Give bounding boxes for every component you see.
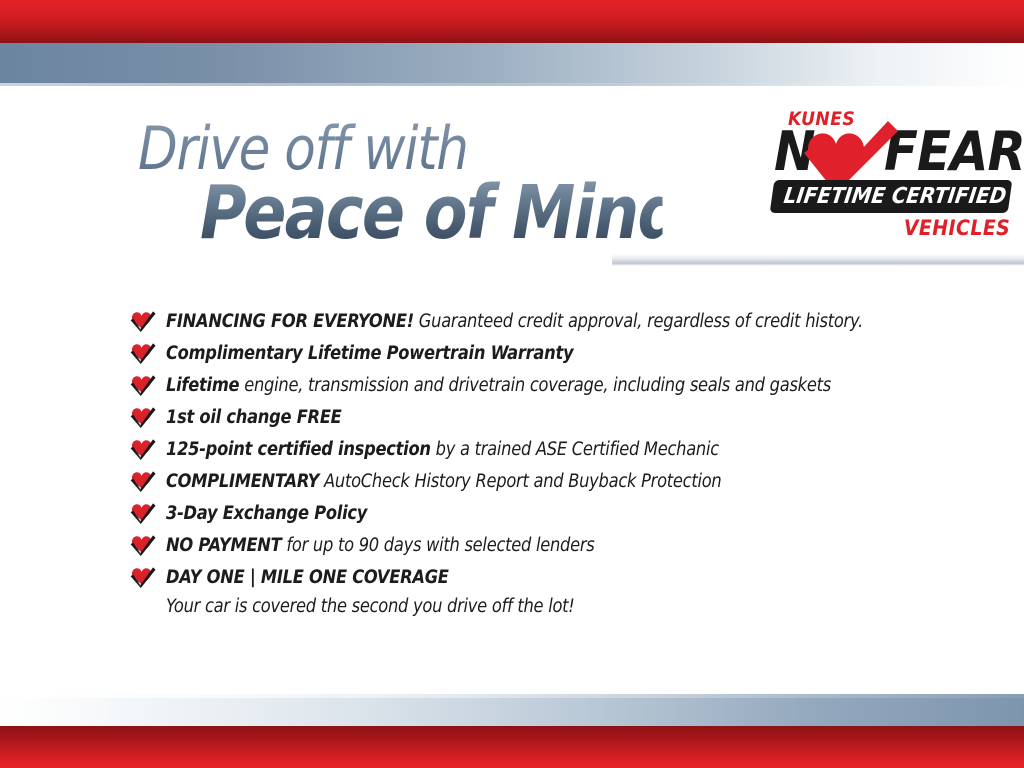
bullet-rest: AutoCheck History Report and Buyback Pro… <box>319 471 721 492</box>
bullet-lead: Lifetime <box>166 375 239 396</box>
headline-line-2: Peace of Mind <box>200 174 663 252</box>
list-item: DAY ONE | MILE ONE COVERAGE Your car is … <box>130 562 930 620</box>
heart-check-icon <box>130 406 156 428</box>
bullet-text: 125-point certified inspection by a trai… <box>166 434 719 466</box>
heart-check-icon <box>130 374 156 396</box>
bullet-text: 1st oil change FREE <box>166 402 342 434</box>
bottom-red-stripe <box>0 726 1024 768</box>
list-item: Lifetime engine, transmission and drivet… <box>130 370 930 402</box>
logo-word-fear: FEAR <box>884 125 1024 179</box>
top-red-stripe <box>0 0 1024 43</box>
bullet-lead: 125-point certified inspection <box>166 439 431 460</box>
list-item: 3-Day Exchange Policy <box>130 498 930 530</box>
bullet-text: FINANCING FOR EVERYONE! Guaranteed credi… <box>166 306 863 338</box>
bullet-lead: DAY ONE | MILE ONE COVERAGE <box>166 567 449 588</box>
bullet-text: COMPLIMENTARY AutoCheck History Report a… <box>166 466 721 498</box>
bullet-lead: NO PAYMENT <box>166 535 282 556</box>
list-item: 125-point certified inspection by a trai… <box>130 434 930 466</box>
bullet-text: Complimentary Lifetime Powertrain Warran… <box>166 338 573 370</box>
headline-block: Drive off with Peace of Mind <box>138 118 738 252</box>
top-slate-stripe <box>0 43 1024 86</box>
bullet-rest: for up to 90 days with selected lenders <box>282 535 595 556</box>
bullet-rest: engine, transmission and drivetrain cove… <box>239 375 831 396</box>
bullet-lead: COMPLIMENTARY <box>166 471 319 492</box>
bullet-subtext: Your car is covered the second you drive… <box>166 594 838 620</box>
heart-check-icon <box>130 502 156 524</box>
heart-check-icon <box>130 470 156 492</box>
heart-check-icon <box>130 566 156 588</box>
list-item: COMPLIMENTARY AutoCheck History Report a… <box>130 466 930 498</box>
logo-certified-band: LIFETIME CERTIFIED <box>770 180 1013 213</box>
bottom-slate-stripe <box>0 694 1024 726</box>
bullet-lead: FINANCING FOR EVERYONE! <box>166 311 414 332</box>
bullet-lead: 3-Day Exchange Policy <box>166 503 367 524</box>
heart-check-icon <box>130 438 156 460</box>
bullet-lead: Complimentary Lifetime Powertrain Warran… <box>166 343 573 364</box>
bullet-rest: by a trained ASE Certified Mechanic <box>431 439 719 460</box>
header-divider <box>612 254 1024 266</box>
heart-check-icon <box>130 534 156 556</box>
bullet-text: 3-Day Exchange Policy <box>166 498 367 530</box>
logo-vehicles-label: VEHICLES <box>904 216 1010 240</box>
bullet-text: Lifetime engine, transmission and drivet… <box>166 370 831 402</box>
list-item: Complimentary Lifetime Powertrain Warran… <box>130 338 930 370</box>
list-item: FINANCING FOR EVERYONE! Guaranteed credi… <box>130 306 930 338</box>
promo-banner: Drive off with Peace of Mind KUNES N FEA… <box>0 0 1024 768</box>
bullet-text: DAY ONE | MILE ONE COVERAGE <box>166 562 449 594</box>
list-item: NO PAYMENT for up to 90 days with select… <box>130 530 930 562</box>
bullet-text: NO PAYMENT for up to 90 days with select… <box>166 530 595 562</box>
kunes-no-fear-logo: KUNES N FEAR LIFETIME CERTIFIED VEHICLES <box>768 108 1012 248</box>
benefits-list: FINANCING FOR EVERYONE! Guaranteed credi… <box>130 306 930 620</box>
heart-check-icon <box>130 310 156 332</box>
bullet-rest: Guaranteed credit approval, regardless o… <box>414 311 863 332</box>
logo-nofear-wordmark: N FEAR <box>774 125 1012 181</box>
bullet-lead: 1st oil change FREE <box>166 407 342 428</box>
list-item: 1st oil change FREE <box>130 402 930 434</box>
heart-check-icon <box>130 342 156 364</box>
logo-band-label: LIFETIME CERTIFIED <box>782 180 1001 213</box>
